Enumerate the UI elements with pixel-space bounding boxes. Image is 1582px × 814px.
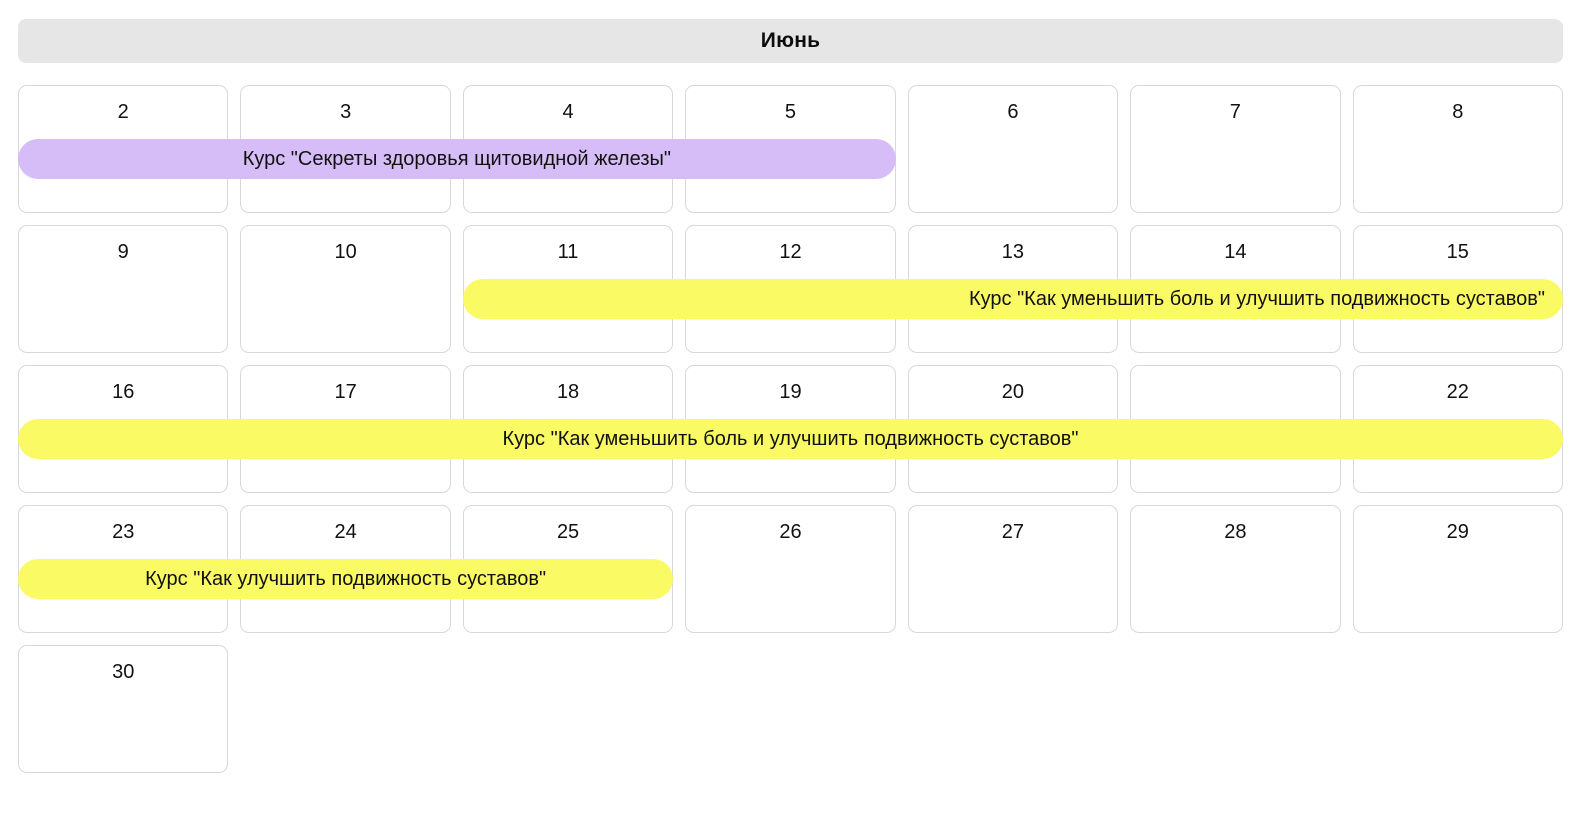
day-number: 28: [1131, 520, 1339, 544]
week-day-cells: 30: [18, 645, 1563, 773]
event-label: Курс "Как уменьшить боль и улучшить подв…: [18, 419, 1563, 459]
day-cell-placeholder: [685, 645, 895, 773]
day-number: 11: [464, 240, 672, 264]
calendar-week-row: 30: [18, 645, 1563, 785]
month-header-bar: Июнь: [18, 19, 1563, 63]
day-number: 10: [241, 240, 449, 264]
month-title: Июнь: [761, 29, 820, 53]
day-number: 25: [464, 520, 672, 544]
day-number: 19: [686, 380, 894, 404]
day-cell-placeholder: [1353, 645, 1563, 773]
day-cell[interactable]: 10: [240, 225, 450, 353]
day-number: 6: [909, 100, 1117, 124]
day-cell[interactable]: 28: [1130, 505, 1340, 633]
day-number: 20: [909, 380, 1117, 404]
day-cell[interactable]: 27: [908, 505, 1118, 633]
day-cell[interactable]: 8: [1353, 85, 1563, 213]
day-number: 29: [1354, 520, 1562, 544]
day-cell[interactable]: 6: [908, 85, 1118, 213]
day-number: 17: [241, 380, 449, 404]
day-number: 16: [19, 380, 227, 404]
day-number: 9: [19, 240, 227, 264]
day-cell-placeholder: [240, 645, 450, 773]
calendar-week-row: 9101112131415Курс "Как уменьшить боль и …: [18, 225, 1563, 365]
day-number: 2: [19, 100, 227, 124]
day-number: 3: [241, 100, 449, 124]
calendar-week-row: 23242526272829Курс "Как улучшить подвижн…: [18, 505, 1563, 645]
event-bar[interactable]: Курс "Секреты здоровья щитовидной железы…: [18, 139, 896, 179]
day-cell-placeholder: [1130, 645, 1340, 773]
calendar-weeks: 2345678Курс "Секреты здоровья щитовидной…: [18, 85, 1563, 785]
event-bar[interactable]: Курс "Как уменьшить боль и улучшить подв…: [463, 279, 1563, 319]
day-number: 23: [19, 520, 227, 544]
day-cell-placeholder: [463, 645, 673, 773]
event-bar[interactable]: Курс "Как уменьшить боль и улучшить подв…: [18, 419, 1563, 459]
event-label: Курс "Как уменьшить боль и улучшить подв…: [463, 279, 1563, 319]
day-number: 8: [1354, 100, 1562, 124]
day-number: 4: [464, 100, 672, 124]
day-number: 7: [1131, 100, 1339, 124]
day-number: 13: [909, 240, 1117, 264]
day-number: 18: [464, 380, 672, 404]
day-cell-placeholder: [908, 645, 1118, 773]
event-bar[interactable]: Курс "Как улучшить подвижность суставов": [18, 559, 673, 599]
calendar-week-row: 161718192022Курс "Как уменьшить боль и у…: [18, 365, 1563, 505]
day-number: 27: [909, 520, 1117, 544]
event-label: Курс "Секреты здоровья щитовидной железы…: [18, 139, 896, 179]
day-cell[interactable]: 7: [1130, 85, 1340, 213]
day-cell[interactable]: 30: [18, 645, 228, 773]
day-number: 5: [686, 100, 894, 124]
day-number: 12: [686, 240, 894, 264]
day-number: 30: [19, 660, 227, 684]
day-cell[interactable]: 9: [18, 225, 228, 353]
day-number: 24: [241, 520, 449, 544]
day-number: 15: [1354, 240, 1562, 264]
calendar-week-row: 2345678Курс "Секреты здоровья щитовидной…: [18, 85, 1563, 225]
event-label: Курс "Как улучшить подвижность суставов": [18, 559, 673, 599]
day-number: 22: [1354, 380, 1562, 404]
day-cell[interactable]: 26: [685, 505, 895, 633]
day-number: 14: [1131, 240, 1339, 264]
day-number: 26: [686, 520, 894, 544]
month-calendar: Июнь 2345678Курс "Секреты здоровья щитов…: [0, 0, 1582, 814]
day-cell[interactable]: 29: [1353, 505, 1563, 633]
